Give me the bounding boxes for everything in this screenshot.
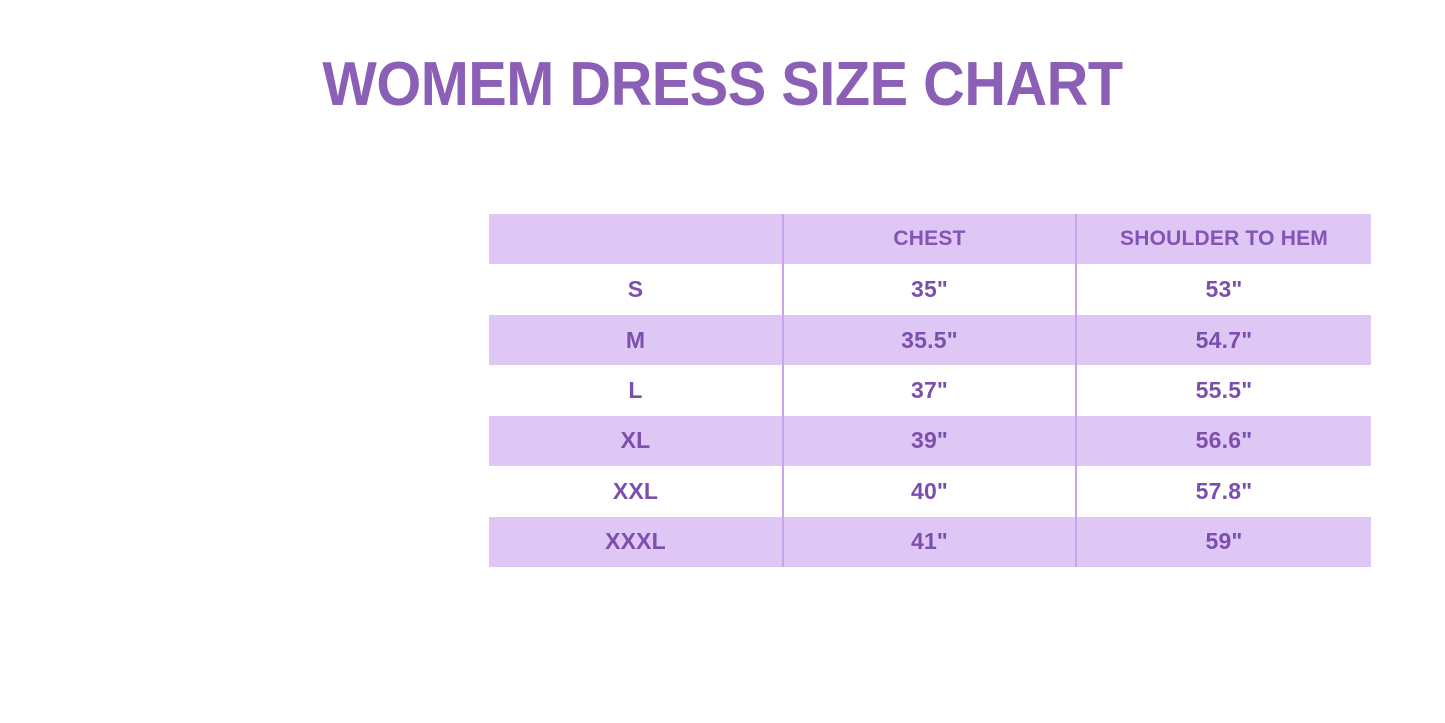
size-chart-page: WOMEM DRESS SIZE CHART CHEST SHOULDER TO…	[0, 0, 1445, 723]
cell-chest: 35.5"	[783, 315, 1076, 365]
table-row: XXL 40" 57.8"	[489, 466, 1371, 516]
cell-shoulder-to-hem: 59"	[1076, 517, 1371, 567]
cell-chest: 39"	[783, 416, 1076, 466]
cell-size: XXL	[489, 466, 783, 516]
cell-chest: 41"	[783, 517, 1076, 567]
cell-shoulder-to-hem: 57.8"	[1076, 466, 1371, 516]
page-title: WOMEM DRESS SIZE CHART	[51, 52, 1395, 117]
table-row: S 35" 53"	[489, 264, 1371, 314]
table-row: M 35.5" 54.7"	[489, 315, 1371, 365]
column-header-chest: CHEST	[783, 214, 1076, 264]
cell-chest: 37"	[783, 365, 1076, 415]
table-header: CHEST SHOULDER TO HEM	[489, 214, 1371, 264]
size-chart-table: CHEST SHOULDER TO HEM S 35" 53" M 35.5" …	[489, 214, 1371, 567]
column-header-size	[489, 214, 783, 264]
cell-chest: 35"	[783, 264, 1076, 314]
cell-size: L	[489, 365, 783, 415]
cell-size: XL	[489, 416, 783, 466]
cell-shoulder-to-hem: 53"	[1076, 264, 1371, 314]
table-row: XXXL 41" 59"	[489, 517, 1371, 567]
cell-size: S	[489, 264, 783, 314]
table-row: L 37" 55.5"	[489, 365, 1371, 415]
cell-shoulder-to-hem: 54.7"	[1076, 315, 1371, 365]
cell-shoulder-to-hem: 55.5"	[1076, 365, 1371, 415]
cell-size: M	[489, 315, 783, 365]
column-header-shoulder-to-hem: SHOULDER TO HEM	[1076, 214, 1371, 264]
size-chart-table-container: CHEST SHOULDER TO HEM S 35" 53" M 35.5" …	[489, 214, 1371, 567]
table-header-row: CHEST SHOULDER TO HEM	[489, 214, 1371, 264]
table-body: S 35" 53" M 35.5" 54.7" L 37" 55.5" XL 3…	[489, 264, 1371, 567]
cell-chest: 40"	[783, 466, 1076, 516]
table-row: XL 39" 56.6"	[489, 416, 1371, 466]
cell-shoulder-to-hem: 56.6"	[1076, 416, 1371, 466]
cell-size: XXXL	[489, 517, 783, 567]
